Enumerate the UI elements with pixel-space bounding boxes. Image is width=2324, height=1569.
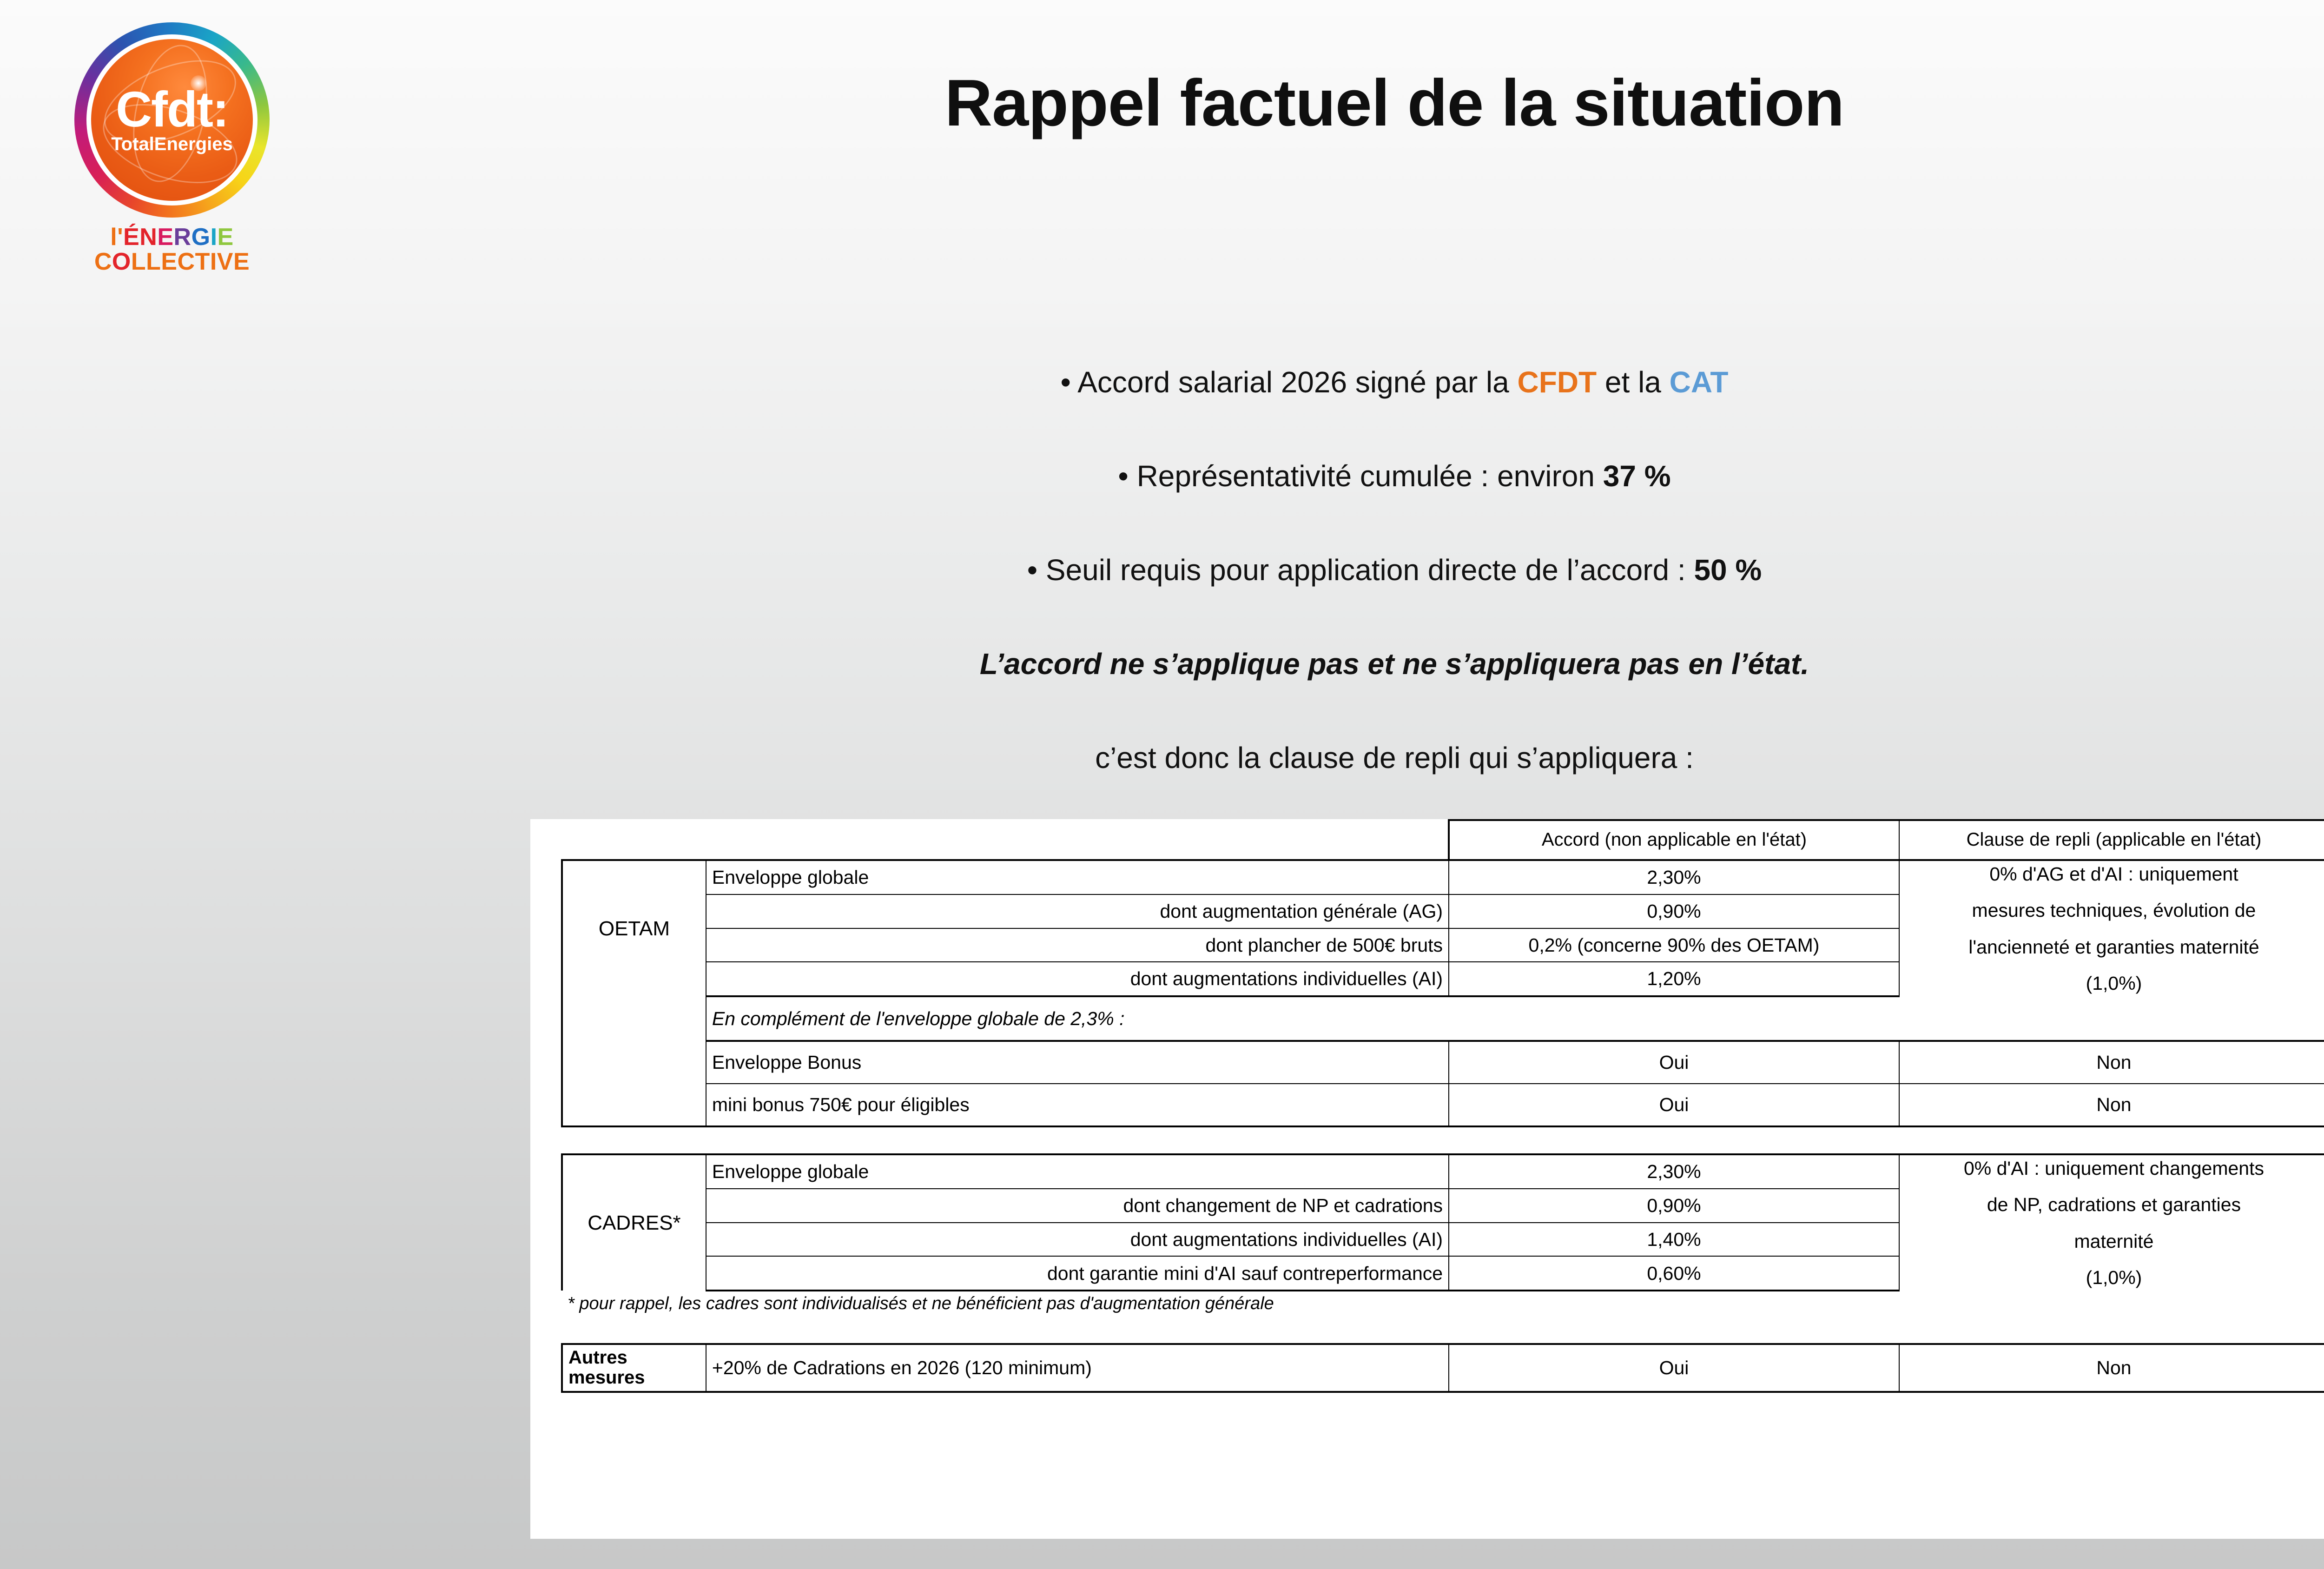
row-accord-value: Oui [1449,1084,1899,1126]
bullet-list: • Accord salarial 2026 signé par la CFDT… [325,367,2324,773]
table-footnote-row: * pour rappel, les cadres sont individua… [562,1291,2324,1316]
row-accord-value: 0,2% (concerne 90% des OETAM) [1449,928,1899,962]
row-accord-value: Oui [1449,1041,1899,1084]
category-cadres: CADRES* [562,1154,706,1291]
bullet-line-2: • Représentativité cumulée : environ 37 … [325,461,2324,491]
row-accord-value: 1,20% [1449,962,1899,996]
comparison-table: Accord (non applicable en l'état) Clause… [561,819,2324,1393]
row-label: dont augmentation générale (AG) [706,894,1449,928]
bullet-value: 37 % [1603,459,1671,493]
row-accord-value: 0,90% [1449,894,1899,928]
repli-line: maternité [1905,1231,2323,1251]
repli-line: 0% d'AG et d'AI : uniquement [1905,864,2323,884]
logo-white-ring: Cfdt: TotalEnergies [86,34,257,205]
row-accord-value: 2,30% [1449,1154,1899,1189]
row-accord-value: 2,30% [1449,860,1899,894]
row-accord-value: 0,60% [1449,1256,1899,1291]
table-header-row: Accord (non applicable en l'état) Clause… [562,820,2324,860]
row-accord-value: Oui [1449,1344,1899,1391]
table-white-panel: Accord (non applicable en l'état) Clause… [530,819,2324,1539]
table-row: CADRES* Enveloppe globale 2,30% 0% d'AI … [562,1154,2324,1189]
row-label: Enveloppe globale [706,860,1449,894]
bullet-line-emphasis: L’accord ne s’applique pas et ne s’appli… [325,649,2324,679]
bullet-text: • Accord salarial 2026 signé par la [1061,365,1518,399]
logo-tagline: l'ÉNERGIE COLLECTIVE [56,225,288,274]
table-gap [562,1126,2324,1154]
row-repli-value: Non [1899,1084,2324,1126]
table-row: mini bonus 750€ pour éligibles Oui Non [562,1084,2324,1126]
row-accord-value: 1,40% [1449,1223,1899,1257]
table-row: Autres mesures +20% de Cadrations en 202… [562,1344,2324,1391]
table-row: OETAM Enveloppe globale 2,30% 0% d'AG et… [562,860,2324,894]
header-clause-repli: Clause de repli (applicable en l'état) [1899,820,2324,860]
bullet-text: L’accord ne s’applique pas et ne s’appli… [980,647,1809,681]
logo-tagline-line2: COLLECTIVE [56,250,288,274]
bullet-text: • Seuil requis pour application directe … [1027,553,1694,587]
category-spacer [562,996,706,1041]
row-accord-value: 0,90% [1449,1189,1899,1223]
oetam-repli-cell: 0% d'AG et d'AI : uniquement mesures tec… [1899,860,2324,996]
row-label: +20% de Cadrations en 2026 (120 minimum) [706,1344,1449,1391]
accent-cfdt: CFDT [1518,365,1597,399]
row-repli-value: Non [1899,1344,2324,1391]
bullet-line-1: • Accord salarial 2026 signé par la CFDT… [325,367,2324,397]
repli-line: 0% d'AI : uniquement changements [1905,1158,2323,1178]
repli-line: mesures techniques, évolution de [1905,900,2323,920]
bullet-line-3: • Seuil requis pour application directe … [325,555,2324,585]
bullet-text: • Représentativité cumulée : environ [1118,459,1603,493]
header-accord: Accord (non applicable en l'état) [1449,820,1899,860]
category-spacer [562,1041,706,1084]
cfdt-totalenergies-logo: Cfdt: TotalEnergies l'ÉNERGIE COLLECTIVE [56,22,288,274]
row-label: dont augmentations individuelles (AI) [706,962,1449,996]
category-oetam: OETAM [562,860,706,996]
page-title: Rappel factuel de la situation [325,65,2324,141]
logo-rainbow-ring: Cfdt: TotalEnergies [74,22,270,218]
category-autres-mesures: Autres mesures [562,1344,706,1391]
row-label: dont garantie mini d'AI sauf contreperfo… [706,1256,1449,1291]
repli-line: (1,0%) [1905,973,2323,993]
table-gap [562,1316,2324,1344]
accent-cat: CAT [1670,365,1729,399]
repli-line: l'ancienneté et garanties maternité [1905,937,2323,957]
table-subheading-row: En complément de l'enveloppe globale de … [562,996,2324,1041]
row-label: dont plancher de 500€ bruts [706,928,1449,962]
bullet-text: et la [1597,365,1670,399]
cadres-repli-cell: 0% d'AI : uniquement changements de NP, … [1899,1154,2324,1291]
bullet-value: 50 % [1694,553,1762,587]
row-label: mini bonus 750€ pour éligibles [706,1084,1449,1126]
logo-orange-orb: Cfdt: TotalEnergies [91,39,253,201]
row-label: dont augmentations individuelles (AI) [706,1223,1449,1257]
repli-line: (1,0%) [1905,1267,2323,1288]
row-label: Enveloppe globale [706,1154,1449,1189]
table-row: Enveloppe Bonus Oui Non [562,1041,2324,1084]
category-spacer [562,1084,706,1126]
bullet-line-conclusion: c’est donc la clause de repli qui s’appl… [325,743,2324,773]
row-label: dont changement de NP et cadrations [706,1189,1449,1223]
bullet-text: c’est donc la clause de repli qui s’appl… [1095,741,1694,775]
row-repli-value: Non [1899,1041,2324,1084]
logo-tagline-line1: l'ÉNERGIE [56,225,288,250]
logo-company-name: TotalEnergies [111,134,233,154]
cadres-footnote: * pour rappel, les cadres sont individua… [562,1291,2324,1316]
oetam-subheading: En complément de l'enveloppe globale de … [706,996,2324,1041]
logo-brand-name: Cfdt: [116,86,228,133]
row-label: Enveloppe Bonus [706,1041,1449,1084]
repli-line: de NP, cadrations et garanties [1905,1194,2323,1215]
